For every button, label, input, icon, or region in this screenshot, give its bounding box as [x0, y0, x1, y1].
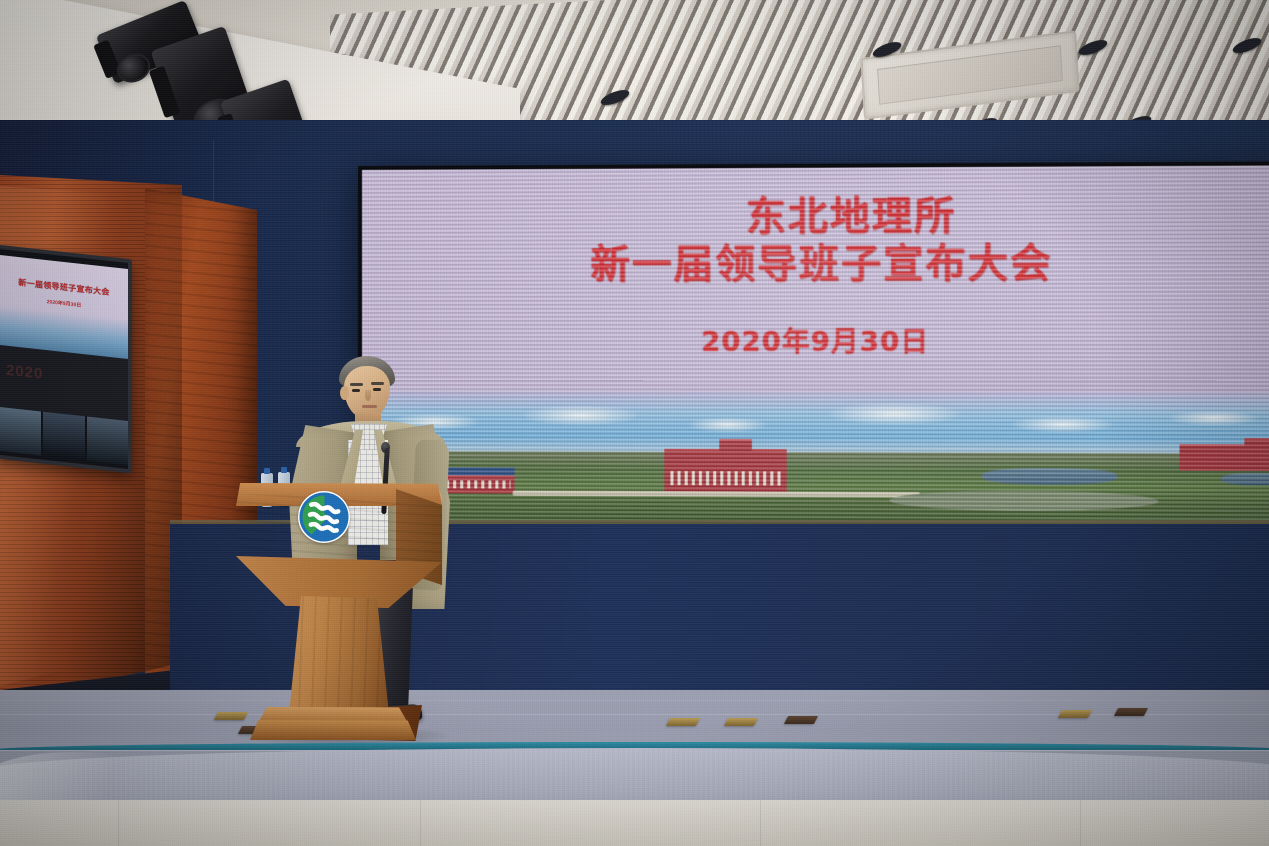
speaker-nose — [365, 390, 371, 401]
floor-tile-joint — [118, 800, 119, 846]
slide-title-line2: 新一届领导班子宣布大会 — [362, 240, 1269, 290]
slide-title-line1: 东北地理所 — [422, 191, 1269, 242]
speaker-eyebrow — [371, 382, 384, 385]
slide-clouds — [362, 394, 1269, 446]
floor-outlet-plate — [1058, 710, 1092, 718]
monitor-thumbnail — [87, 416, 128, 464]
stage-floor-seam — [0, 700, 1269, 701]
hall-floor — [0, 800, 1269, 846]
monitor-slide-area: 新一届领导班子宣布大会 2020年9月30日 — [0, 255, 128, 361]
slide-building-tower — [719, 439, 752, 455]
floor-outlet-plate — [724, 718, 758, 726]
slide-date: 2020年9月30日 — [362, 319, 1269, 359]
floor-outlet-plate — [214, 712, 248, 720]
slide-pond — [1221, 473, 1269, 486]
floor-outlet-plate — [666, 718, 700, 726]
led-screen-surface: 东北地理所 新一届领导班子宣布大会 2020年9月30日 — [362, 165, 1269, 530]
floor-tile-joint — [1080, 800, 1081, 846]
institute-emblem-icon — [297, 490, 350, 543]
slide-text-block: 东北地理所 新一届领导班子宣布大会 2020年9月30日 — [362, 191, 1269, 359]
floor-outlet-plate — [1114, 708, 1148, 716]
slide-building-far — [1244, 438, 1269, 471]
speaker-mouth — [362, 405, 377, 408]
slide-pond — [982, 468, 1117, 485]
podium-base-lower — [250, 720, 416, 740]
speaker-eye — [352, 389, 360, 392]
floor-tile-joint — [420, 800, 421, 846]
podium-column-grain — [289, 596, 389, 714]
conference-hall-photo: 新一届领导班子宣布大会 2020年9月30日 2020 — [0, 0, 1269, 846]
floor-outlet-plate — [784, 716, 818, 724]
speaker-eyebrow — [350, 383, 363, 386]
floor-tile-joint — [760, 800, 761, 846]
slide-building-windows — [670, 471, 780, 486]
monitor-thumbnail — [0, 407, 41, 455]
led-video-wall: 东北地理所 新一届领导班子宣布大会 2020年9月30日 — [358, 161, 1269, 534]
preview-monitor[interactable]: 新一届领导班子宣布大会 2020年9月30日 2020 — [0, 245, 132, 474]
speaker-eye — [373, 388, 381, 391]
monitor-thumbnail — [43, 412, 84, 460]
speaker-ear — [340, 386, 349, 400]
